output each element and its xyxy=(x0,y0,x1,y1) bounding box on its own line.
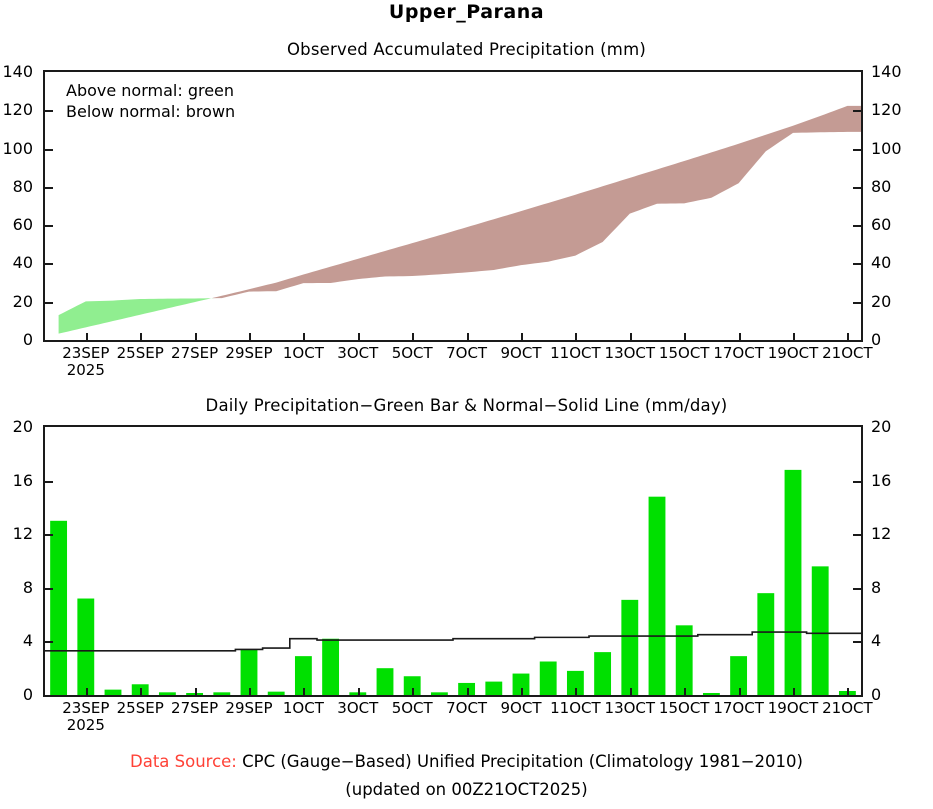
x-axis-label: 15OCT xyxy=(659,700,710,716)
x-tick-mark xyxy=(630,333,632,340)
x-axis-year-label: 2025 xyxy=(67,717,105,733)
y-tick-mark-left xyxy=(45,187,53,189)
x-axis-label: 3OCT xyxy=(337,700,378,716)
updated-text: (updated on 00Z21OCT2025) xyxy=(345,780,587,799)
x-axis-label: 17OCT xyxy=(713,700,764,716)
y-axis-label-left: 20 xyxy=(0,419,33,435)
y-tick-mark-right xyxy=(853,149,861,151)
footer-source-line: Data Source: CPC (Gauge−Based) Unified P… xyxy=(0,748,933,776)
y-tick-mark-right xyxy=(853,481,861,483)
y-tick-mark-right xyxy=(853,534,861,536)
x-tick-mark xyxy=(195,688,197,695)
x-tick-mark xyxy=(793,333,795,340)
x-tick-mark xyxy=(521,333,523,340)
y-tick-mark-right xyxy=(853,110,861,112)
x-axis-label: 13OCT xyxy=(605,700,656,716)
x-axis-label: 9OCT xyxy=(501,345,542,361)
x-axis-label: 25SEP xyxy=(117,345,164,361)
y-tick-mark-left xyxy=(45,149,53,151)
y-axis-label-right: 120 xyxy=(871,102,921,118)
x-tick-mark xyxy=(684,688,686,695)
x-tick-mark xyxy=(793,688,795,695)
x-tick-mark xyxy=(575,333,577,340)
x-tick-mark xyxy=(303,688,305,695)
y-axis-label-left: 40 xyxy=(0,255,33,271)
y-tick-mark-right xyxy=(853,641,861,643)
y-axis-label-right: 4 xyxy=(871,633,921,649)
x-tick-mark xyxy=(630,688,632,695)
x-tick-mark xyxy=(412,688,414,695)
y-axis-label-left: 16 xyxy=(0,473,33,489)
x-tick-mark xyxy=(140,333,142,340)
x-axis-label: 1OCT xyxy=(283,345,324,361)
x-axis-year-label: 2025 xyxy=(67,362,105,378)
x-axis-label: 19OCT xyxy=(768,700,819,716)
x-tick-mark xyxy=(739,333,741,340)
x-tick-mark xyxy=(847,688,849,695)
y-axis-label-right: 40 xyxy=(871,255,921,271)
x-tick-mark xyxy=(521,688,523,695)
x-tick-mark xyxy=(195,333,197,340)
x-axis-label: 27SEP xyxy=(171,700,218,716)
x-axis-label: 27SEP xyxy=(171,345,218,361)
x-axis-label: 21OCT xyxy=(822,345,873,361)
x-tick-mark xyxy=(86,688,88,695)
y-axis-label-right: 8 xyxy=(871,580,921,596)
y-tick-mark-right xyxy=(853,302,861,304)
y-axis-label-right: 100 xyxy=(871,141,921,157)
daily-plot-area xyxy=(43,425,863,697)
x-tick-mark xyxy=(358,688,360,695)
footer-updated-line: (updated on 00Z21OCT2025) xyxy=(0,776,933,804)
x-tick-mark xyxy=(467,333,469,340)
x-tick-mark xyxy=(412,333,414,340)
accumulated-chart-title: Observed Accumulated Precipitation (mm) xyxy=(0,40,933,59)
x-axis-label: 7OCT xyxy=(446,345,487,361)
data-source-text: CPC (Gauge−Based) Unified Precipitation … xyxy=(242,752,803,771)
y-tick-mark-right xyxy=(853,588,861,590)
y-axis-label-left: 60 xyxy=(0,217,33,233)
y-tick-mark-right xyxy=(853,263,861,265)
y-axis-label-left: 120 xyxy=(0,102,33,118)
y-axis-label-right: 0 xyxy=(871,332,921,348)
y-tick-mark-left xyxy=(45,302,53,304)
daily-chart-title: Daily Precipitation−Green Bar & Normal−S… xyxy=(0,396,933,415)
y-axis-label-left: 20 xyxy=(0,294,33,310)
chart-page: Upper_Parana Observed Accumulated Precip… xyxy=(0,0,933,809)
y-axis-label-right: 16 xyxy=(871,473,921,489)
x-tick-mark xyxy=(86,333,88,340)
y-tick-mark-left xyxy=(45,481,53,483)
y-axis-label-right: 60 xyxy=(871,217,921,233)
y-tick-mark-left xyxy=(45,641,53,643)
y-axis-label-right: 0 xyxy=(871,687,921,703)
x-axis-label: 11OCT xyxy=(550,345,601,361)
y-tick-mark-left xyxy=(45,110,53,112)
x-tick-mark xyxy=(249,333,251,340)
y-axis-label-right: 140 xyxy=(871,64,921,80)
y-tick-mark-left xyxy=(45,225,53,227)
x-axis-label: 29SEP xyxy=(225,345,272,361)
y-axis-label-right: 20 xyxy=(871,419,921,435)
x-tick-mark xyxy=(467,688,469,695)
x-axis-label: 23SEP xyxy=(62,345,109,361)
x-axis-label: 7OCT xyxy=(446,700,487,716)
x-axis-label: 3OCT xyxy=(337,345,378,361)
y-tick-mark-right xyxy=(853,187,861,189)
y-tick-mark-left xyxy=(45,588,53,590)
y-axis-label-left: 0 xyxy=(0,687,33,703)
accumulated-legend: Above normal: green Below normal: brown xyxy=(66,80,235,122)
x-axis-label: 5OCT xyxy=(392,345,433,361)
x-tick-mark xyxy=(739,688,741,695)
x-axis-label: 11OCT xyxy=(550,700,601,716)
x-axis-label: 15OCT xyxy=(659,345,710,361)
legend-below-normal: Below normal: brown xyxy=(66,101,235,122)
x-tick-mark xyxy=(575,688,577,695)
y-axis-label-left: 140 xyxy=(0,64,33,80)
x-tick-mark xyxy=(684,333,686,340)
x-tick-mark xyxy=(249,688,251,695)
y-axis-label-left: 0 xyxy=(0,332,33,348)
x-axis-label: 25SEP xyxy=(117,700,164,716)
y-axis-label-left: 8 xyxy=(0,580,33,596)
x-axis-label: 9OCT xyxy=(501,700,542,716)
x-axis-label: 1OCT xyxy=(283,700,324,716)
legend-above-normal: Above normal: green xyxy=(66,80,235,101)
x-axis-label: 5OCT xyxy=(392,700,433,716)
x-tick-mark xyxy=(847,333,849,340)
daily-bars-svg xyxy=(45,427,861,695)
x-axis-label: 21OCT xyxy=(822,700,873,716)
y-axis-label-left: 4 xyxy=(0,633,33,649)
x-tick-mark xyxy=(358,333,360,340)
y-axis-label-left: 80 xyxy=(0,179,33,195)
x-axis-label: 13OCT xyxy=(605,345,656,361)
x-tick-mark xyxy=(303,333,305,340)
x-axis-label: 29SEP xyxy=(225,700,272,716)
y-axis-label-left: 100 xyxy=(0,141,33,157)
y-axis-label-right: 80 xyxy=(871,179,921,195)
y-tick-mark-left xyxy=(45,263,53,265)
y-axis-label-left: 12 xyxy=(0,526,33,542)
y-axis-label-right: 20 xyxy=(871,294,921,310)
y-tick-mark-left xyxy=(45,534,53,536)
x-tick-mark xyxy=(140,688,142,695)
x-axis-label: 17OCT xyxy=(713,345,764,361)
y-tick-mark-right xyxy=(853,225,861,227)
page-title: Upper_Parana xyxy=(0,0,933,24)
x-axis-label: 19OCT xyxy=(768,345,819,361)
data-source-label: Data Source: xyxy=(130,752,237,771)
x-axis-label: 23SEP xyxy=(62,700,109,716)
y-axis-label-right: 12 xyxy=(871,526,921,542)
